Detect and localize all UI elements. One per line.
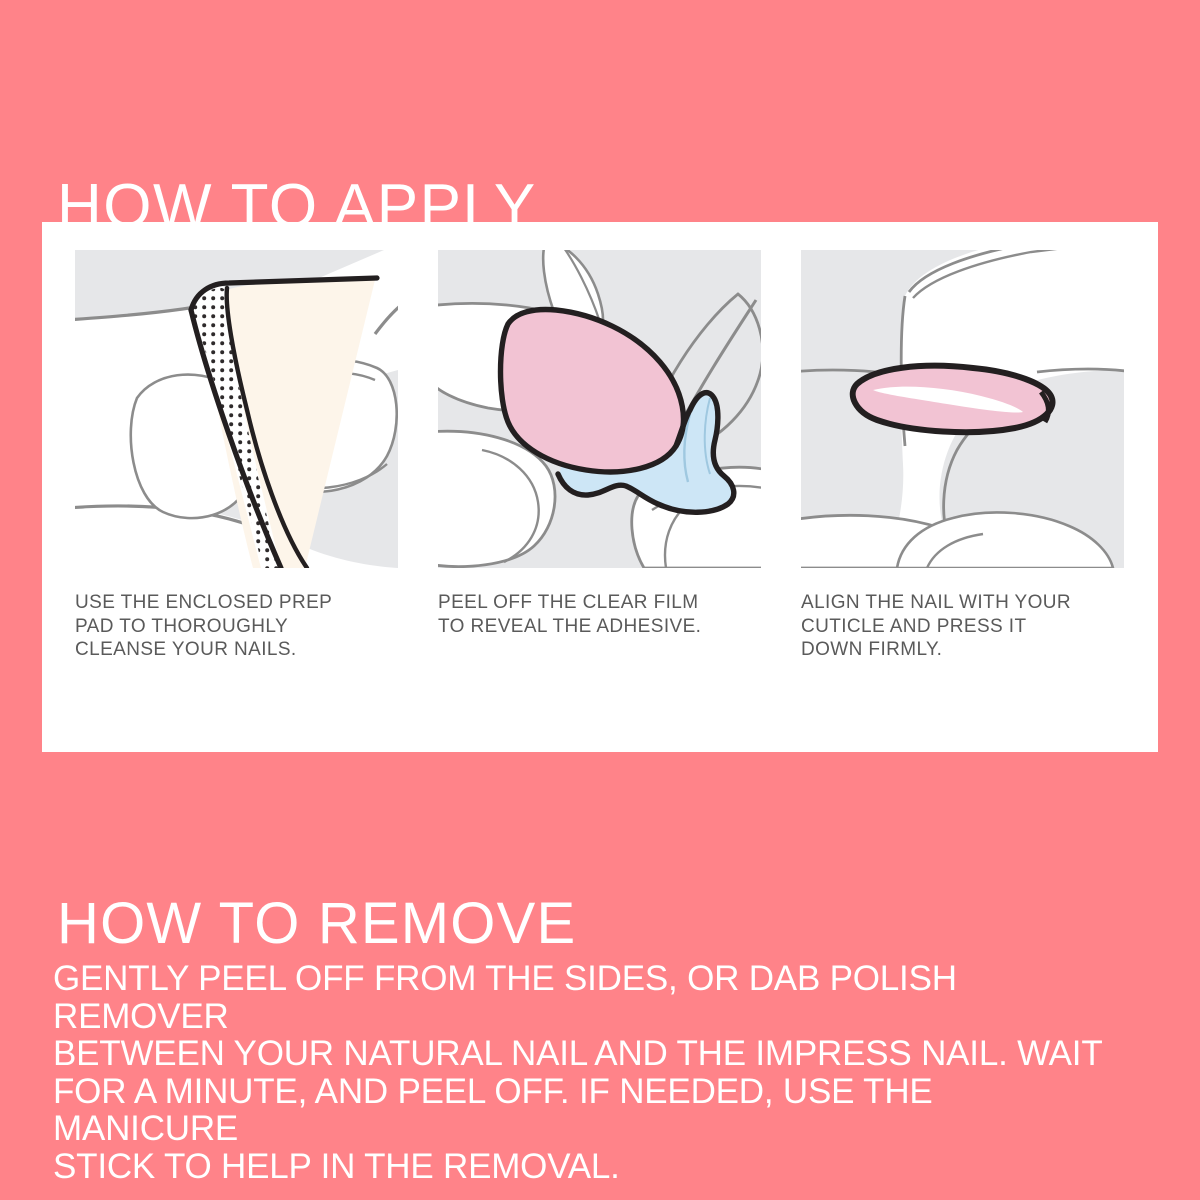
apply-step-1-caption: USE THE ENCLOSED PREP PAD TO THOROUGHLY …: [75, 591, 398, 662]
apply-step-2-caption: PEEL OFF THE CLEAR FILM TO REVEAL THE AD…: [438, 591, 761, 638]
apply-step-2: PEEL OFF THE CLEAR FILM TO REVEAL THE AD…: [438, 250, 761, 662]
apply-step-1: USE THE ENCLOSED PREP PAD TO THOROUGHLY …: [75, 250, 398, 662]
apply-steps-card: USE THE ENCLOSED PREP PAD TO THOROUGHLY …: [42, 222, 1158, 752]
how-to-remove-heading: HOW TO REMOVE: [57, 890, 576, 958]
aligning-nail-to-cuticle-illustration: [801, 250, 1124, 568]
apply-step-3: ALIGN THE NAIL WITH YOUR CUTICLE AND PRE…: [801, 250, 1124, 662]
peeling-clear-film-illustration: [438, 250, 761, 568]
apply-step-3-caption: ALIGN THE NAIL WITH YOUR CUTICLE AND PRE…: [801, 591, 1124, 662]
prep-pad-on-finger-illustration: [75, 250, 398, 568]
how-to-remove-body: GENTLY PEEL OFF FROM THE SIDES, OR DAB P…: [53, 960, 1113, 1185]
apply-steps-list: USE THE ENCLOSED PREP PAD TO THOROUGHLY …: [75, 250, 1125, 662]
instruction-poster: HOW TO APPLY: [0, 0, 1200, 1200]
